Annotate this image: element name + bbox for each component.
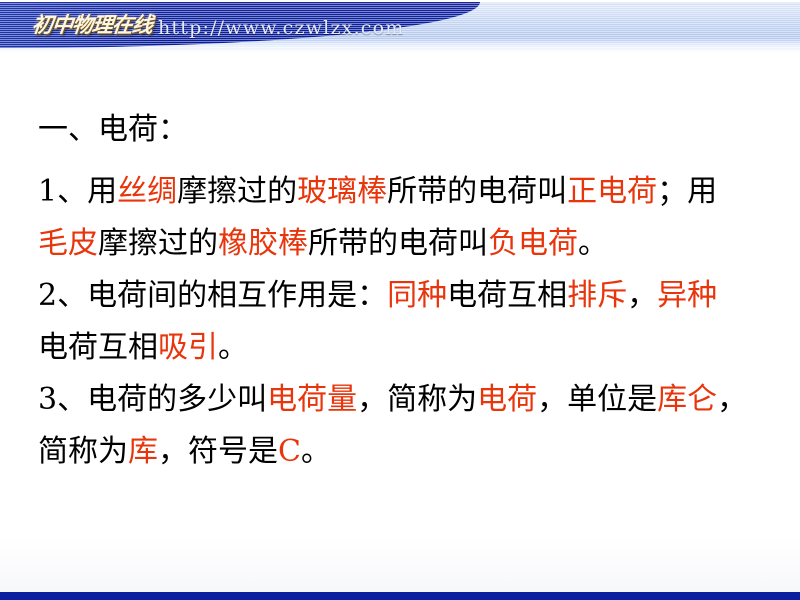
body-text: 电荷互相 (38, 330, 158, 365)
body-text: ， (627, 278, 657, 313)
highlighted-term: C (278, 434, 301, 469)
footer-accent-bar (0, 592, 800, 600)
body-text: ， (717, 382, 747, 417)
body-text: 电荷互相 (447, 278, 567, 313)
highlighted-term: 库仑 (657, 382, 717, 417)
section-heading: 一、电荷： (38, 104, 780, 156)
highlighted-term: 玻璃棒 (297, 174, 387, 209)
text-line: 1、用丝绸摩擦过的玻璃棒所带的电荷叫正电荷；用 (38, 166, 780, 218)
body-text: ，简称为 (357, 382, 477, 417)
highlighted-term: 负电荷 (488, 226, 578, 261)
text-line-list: 1、用丝绸摩擦过的玻璃棒所带的电荷叫正电荷；用毛皮摩擦过的橡胶棒所带的电荷叫负电… (38, 166, 780, 478)
highlighted-term: 异种 (657, 278, 717, 313)
body-text: ，符号是 (158, 434, 278, 469)
highlighted-term: 电荷量 (267, 382, 357, 417)
highlighted-term: 橡胶棒 (218, 226, 308, 261)
footer-gradient (0, 538, 800, 592)
slide-canvas: 初中物理在线 http://www.czwlzx.com 一、电荷： 1、用丝绸… (0, 0, 800, 600)
body-text: 摩擦过的 (177, 174, 297, 209)
highlighted-term: 丝绸 (117, 174, 177, 209)
body-text: 。 (578, 226, 608, 261)
body-text: 。 (301, 434, 331, 469)
highlighted-term: 正电荷 (567, 174, 657, 209)
body-text: ；用 (657, 174, 717, 209)
site-url: http://www.czwlzx.com (158, 17, 405, 40)
body-text: 摩擦过的 (98, 226, 218, 261)
body-text: 2、电荷间的相互作用是： (38, 278, 387, 313)
highlighted-term: 同种 (387, 278, 447, 313)
text-line: 电荷互相吸引。 (38, 322, 780, 374)
site-logo: 初中物理在线 (31, 14, 153, 35)
text-line: 简称为库，符号是C。 (38, 426, 780, 478)
body-text: 所带的电荷叫 (387, 174, 567, 209)
highlighted-term: 吸引 (158, 330, 218, 365)
text-line: 2、电荷间的相互作用是：同种电荷互相排斥，异种 (38, 270, 780, 322)
text-line: 毛皮摩擦过的橡胶棒所带的电荷叫负电荷。 (38, 218, 780, 270)
slide-body: 一、电荷： 1、用丝绸摩擦过的玻璃棒所带的电荷叫正电荷；用毛皮摩擦过的橡胶棒所带… (38, 104, 780, 478)
body-text: 简称为 (38, 434, 128, 469)
highlighted-term: 库 (128, 434, 158, 469)
body-text: 所带的电荷叫 (308, 226, 488, 261)
body-text: 。 (218, 330, 248, 365)
highlighted-term: 排斥 (567, 278, 627, 313)
header-bottom-highlight (0, 48, 800, 52)
highlighted-term: 电荷 (477, 382, 537, 417)
body-text: 1、用 (38, 174, 117, 209)
body-text: ，单位是 (537, 382, 657, 417)
header-banner: 初中物理在线 http://www.czwlzx.com (0, 0, 800, 52)
body-text: 3、电荷的多少叫 (38, 382, 267, 417)
highlighted-term: 毛皮 (38, 226, 98, 261)
text-line: 3、电荷的多少叫电荷量，简称为电荷，单位是库仑， (38, 374, 780, 426)
